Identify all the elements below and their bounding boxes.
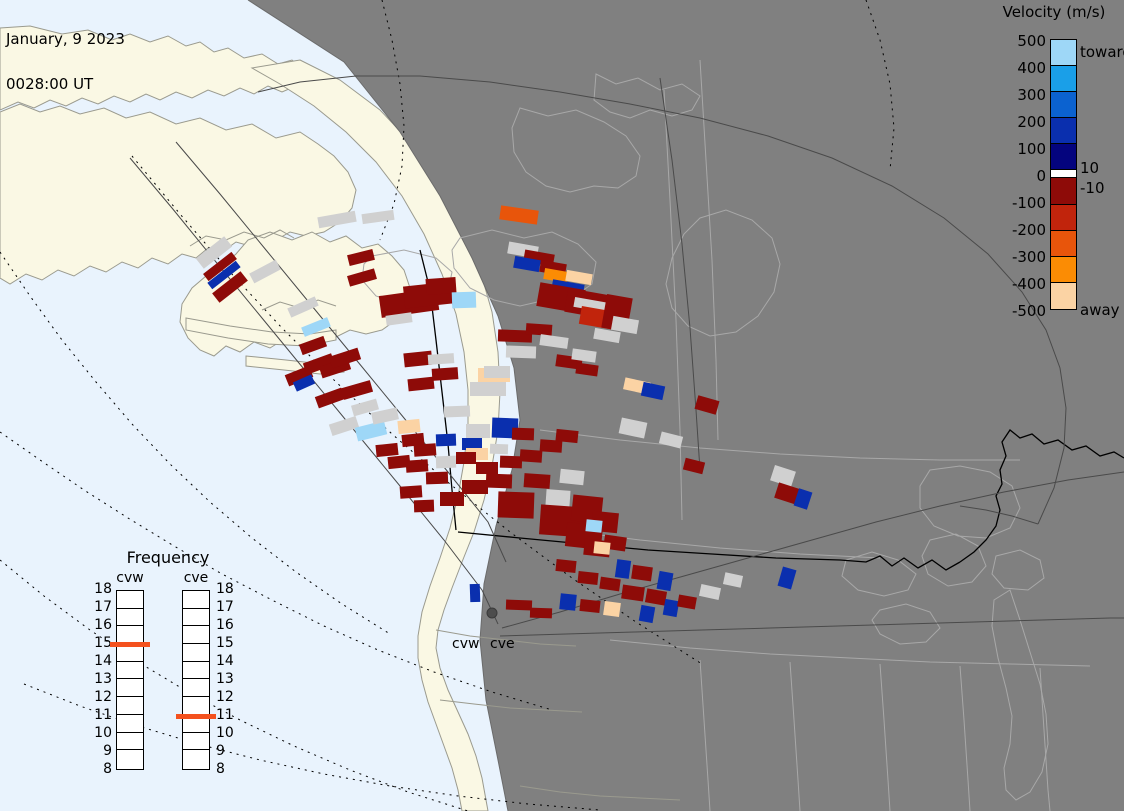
frequency-cell [183, 733, 209, 751]
colorbar-tick: 100 [998, 140, 1046, 158]
velocity-cell [520, 449, 543, 463]
colorbar-segment [1051, 118, 1076, 144]
frequency-tick-label: 18 [216, 581, 234, 597]
velocity-cell [512, 428, 534, 441]
colorbar-segment [1051, 66, 1076, 92]
colorbar-tick: -200 [998, 221, 1046, 239]
frequency-tick-label: 12 [216, 689, 234, 705]
colorbar-segment [1051, 231, 1076, 257]
frequency-cell [183, 626, 209, 644]
frequency-tick-label: 8 [216, 761, 225, 777]
frequency-marker-cvw [110, 642, 150, 647]
velocity-cell [506, 345, 536, 358]
velocity-cell [559, 593, 577, 611]
colorbar-segment [1051, 283, 1076, 309]
velocity-cell [436, 434, 456, 447]
frequency-column-name: cvw [108, 570, 152, 586]
velocity-cell [470, 382, 506, 396]
frequency-title: Frequency [88, 548, 248, 567]
colorbar-tick: -400 [998, 275, 1046, 293]
radar-site-marker [487, 608, 497, 618]
frequency-cell [117, 750, 143, 768]
frequency-tick-label: 17 [88, 599, 112, 615]
velocity-cell [466, 424, 490, 438]
velocity-cell [631, 565, 653, 582]
frequency-tick-label: 8 [88, 761, 112, 777]
velocity-cell [490, 444, 508, 455]
date-label: January, 9 2023 [6, 32, 125, 47]
frequency-cell [183, 591, 209, 609]
velocity-cell [425, 277, 456, 295]
velocity-colorbar-panel: Velocity (m/s) 5004003002001000-100-200-… [980, 0, 1124, 340]
frequency-cell [117, 591, 143, 609]
frequency-cell [117, 697, 143, 715]
velocity-cell [585, 519, 602, 533]
timestamp-block: January, 9 2023 0028:00 UT [6, 2, 125, 122]
colorbar-segment [1051, 40, 1076, 66]
velocity-cell [375, 443, 398, 457]
velocity-cell [540, 439, 563, 453]
colorbar-gradient [1050, 39, 1077, 310]
frequency-tick-label: 11 [216, 707, 234, 723]
velocity-cell [486, 474, 512, 489]
velocity-cell [615, 559, 631, 579]
negative-threshold-label: -10 [1080, 179, 1105, 197]
frequency-column-name: cve [174, 570, 218, 586]
colorbar-segment [1051, 170, 1076, 178]
velocity-cell [426, 472, 448, 485]
velocity-cell [555, 559, 576, 573]
colorbar-tick: 200 [998, 113, 1046, 131]
velocity-cell [506, 600, 532, 611]
velocity-cell [545, 489, 570, 507]
velocity-cell [406, 459, 429, 473]
velocity-cell [593, 541, 610, 555]
velocity-cell [555, 429, 578, 443]
colorbar-segment [1051, 205, 1076, 231]
frequency-tick-label: 14 [216, 653, 234, 669]
colorbar-tick: 0 [998, 167, 1046, 185]
velocity-cell [663, 599, 680, 617]
velocity-cell [444, 406, 470, 418]
velocity-cell [428, 353, 455, 365]
frequency-tick-label: 13 [88, 671, 112, 687]
velocity-cell [559, 469, 584, 485]
frequency-tick-label: 16 [216, 617, 234, 633]
frequency-tick-label: 13 [216, 671, 234, 687]
frequency-cell [117, 679, 143, 697]
velocity-cell [414, 443, 437, 457]
frequency-cell [183, 750, 209, 768]
colorbar-tick: 400 [998, 59, 1046, 77]
positive-threshold-label: 10 [1080, 159, 1099, 177]
velocity-cell [579, 599, 600, 613]
colorbar-tick: -100 [998, 194, 1046, 212]
colorbar-title: Velocity (m/s) [984, 3, 1124, 21]
velocity-cell [414, 500, 434, 513]
velocity-cell [400, 485, 423, 499]
frequency-tick-label: 15 [88, 635, 112, 651]
velocity-cell [484, 366, 510, 378]
colorbar-tick: -300 [998, 248, 1046, 266]
frequency-cell [183, 662, 209, 680]
colorbar-segment [1051, 257, 1076, 283]
colorbar-tick: 500 [998, 32, 1046, 50]
frequency-tick-label: 10 [88, 725, 112, 741]
velocity-cell [456, 452, 476, 464]
frequency-tick-label: 11 [88, 707, 112, 723]
velocity-cell [498, 491, 535, 518]
frequency-cell [183, 644, 209, 662]
time-label: 0028:00 UT [6, 77, 125, 92]
colorbar-tick: 300 [998, 86, 1046, 104]
frequency-tick-label: 15 [216, 635, 234, 651]
frequency-tick-label: 18 [88, 581, 112, 597]
frequency-cell [117, 715, 143, 733]
velocity-cell [524, 473, 551, 489]
colorbar-segment [1051, 178, 1076, 204]
velocity-cell [577, 571, 598, 585]
velocity-cell [526, 323, 553, 336]
frequency-tick-label: 17 [216, 599, 234, 615]
frequency-cell [117, 662, 143, 680]
frequency-tick-label: 14 [88, 653, 112, 669]
frequency-tick-label: 16 [88, 617, 112, 633]
colorbar-tick: -500 [998, 302, 1046, 320]
velocity-cell [432, 367, 459, 381]
velocity-cell [476, 462, 498, 474]
frequency-marker-cve [176, 714, 216, 719]
frequency-tick-label: 9 [88, 743, 112, 759]
velocity-cell [440, 492, 464, 506]
velocity-cell [452, 292, 477, 309]
frequency-cell [183, 609, 209, 627]
velocity-cell [462, 480, 488, 494]
radar-site-label-cvw: cvw [452, 636, 479, 652]
frequency-legend-panel: Frequency cvw18171615141312111098cve1817… [88, 548, 248, 778]
toward-label: toward [1080, 43, 1124, 61]
velocity-cell [500, 456, 522, 469]
frequency-bar [116, 590, 144, 770]
away-label: away [1080, 301, 1120, 319]
velocity-cell [639, 605, 656, 623]
frequency-tick-label: 12 [88, 689, 112, 705]
frequency-cell [117, 609, 143, 627]
frequency-tick-label: 9 [216, 743, 225, 759]
velocity-cell [470, 584, 481, 602]
velocity-cell [603, 601, 621, 617]
frequency-cell [183, 679, 209, 697]
velocity-cell [530, 608, 552, 619]
colorbar-segment [1051, 144, 1076, 170]
radar-velocity-map: January, 9 2023 0028:00 UT Velocity (m/s… [0, 0, 1124, 811]
frequency-cell [183, 697, 209, 715]
frequency-tick-label: 10 [216, 725, 234, 741]
frequency-cell [117, 733, 143, 751]
velocity-cell [397, 419, 420, 434]
velocity-cell [436, 456, 456, 469]
radar-site-label-cve: cve [490, 636, 515, 652]
frequency-bar [182, 590, 210, 770]
colorbar-segment [1051, 92, 1076, 118]
